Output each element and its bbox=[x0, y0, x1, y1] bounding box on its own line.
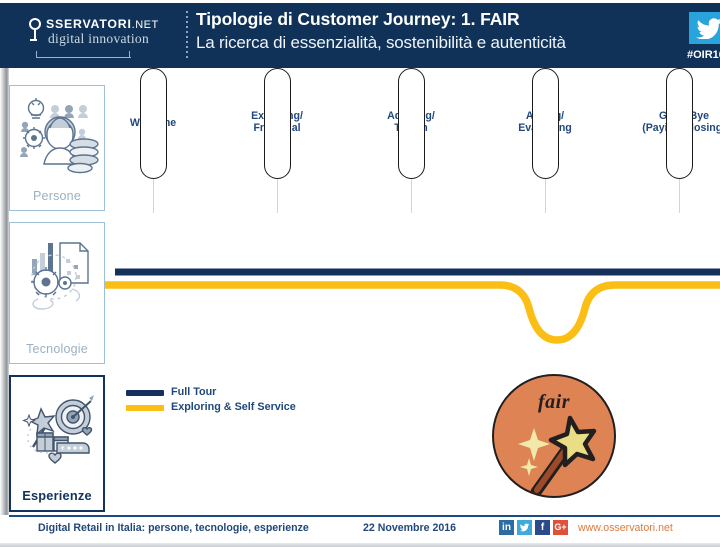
title-divider bbox=[186, 11, 188, 59]
brand-name-tld: .NET bbox=[132, 19, 159, 31]
wand-target-gift-icon bbox=[11, 385, 103, 469]
slide-canvas: SSERVATORI.NET digital innovation Tipolo… bbox=[0, 0, 720, 547]
brand-name-main: SSERVATORI bbox=[46, 17, 132, 31]
slide-edge-shadow bbox=[0, 68, 9, 515]
twitter-bird-icon[interactable] bbox=[689, 12, 720, 44]
badge-label: fair bbox=[492, 391, 616, 414]
facebook-icon[interactable]: f bbox=[535, 520, 550, 535]
sidebar-item-tecnologie[interactable]: Tecnologie bbox=[9, 222, 105, 364]
footer-baseline-shadow bbox=[0, 543, 720, 547]
googleplus-icon[interactable]: G+ bbox=[553, 520, 568, 535]
brand-name: SSERVATORI.NET bbox=[46, 17, 159, 31]
footer-date: 22 Novembre 2016 bbox=[363, 522, 456, 534]
linkedin-icon[interactable]: in bbox=[499, 520, 514, 535]
footer-event-title: Digital Retail in Italia: persone, tecno… bbox=[38, 522, 309, 534]
journey-diagram: Welcome Exploring/ Free Trial Advising/ … bbox=[105, 68, 720, 515]
stage-node-advising[interactable] bbox=[398, 68, 425, 179]
gears-document-icon bbox=[10, 231, 104, 315]
header-top-rule bbox=[0, 0, 720, 3]
slide-subtitle: La ricerca di essenzialità, sostenibilit… bbox=[196, 33, 666, 53]
event-hashtag: #OIR16 bbox=[687, 49, 720, 61]
title-block: Tipologie di Customer Journey: 1. FAIR L… bbox=[196, 9, 666, 53]
stage-node-exploring[interactable] bbox=[264, 68, 291, 179]
sidebar-item-label: Persone bbox=[10, 189, 104, 203]
logo-rule bbox=[36, 57, 131, 58]
stage-node-welcome[interactable] bbox=[140, 68, 167, 179]
slide-title: Tipologie di Customer Journey: 1. FAIR bbox=[196, 9, 666, 30]
sidebar-item-label: Esperienze bbox=[11, 488, 103, 503]
location-pin-icon bbox=[29, 18, 42, 42]
brand-logo[interactable]: SSERVATORI.NET digital innovation bbox=[29, 17, 181, 61]
footer-website-link[interactable]: www.osservatori.net bbox=[578, 522, 673, 534]
slide-header: SSERVATORI.NET digital innovation Tipolo… bbox=[0, 0, 720, 68]
sidebar-item-esperienze[interactable]: Esperienze bbox=[9, 375, 105, 512]
stage-node-goodbye[interactable] bbox=[666, 68, 693, 179]
stage-node-asking[interactable] bbox=[532, 68, 559, 179]
sidebar-item-label: Tecnologie bbox=[10, 342, 104, 356]
logo-rule-tick-right bbox=[129, 51, 130, 58]
twitter-icon[interactable] bbox=[517, 520, 532, 535]
people-ideas-icon bbox=[10, 94, 104, 178]
sidebar-item-persone[interactable]: Persone bbox=[9, 85, 105, 211]
brand-tagline: digital innovation bbox=[48, 31, 149, 47]
